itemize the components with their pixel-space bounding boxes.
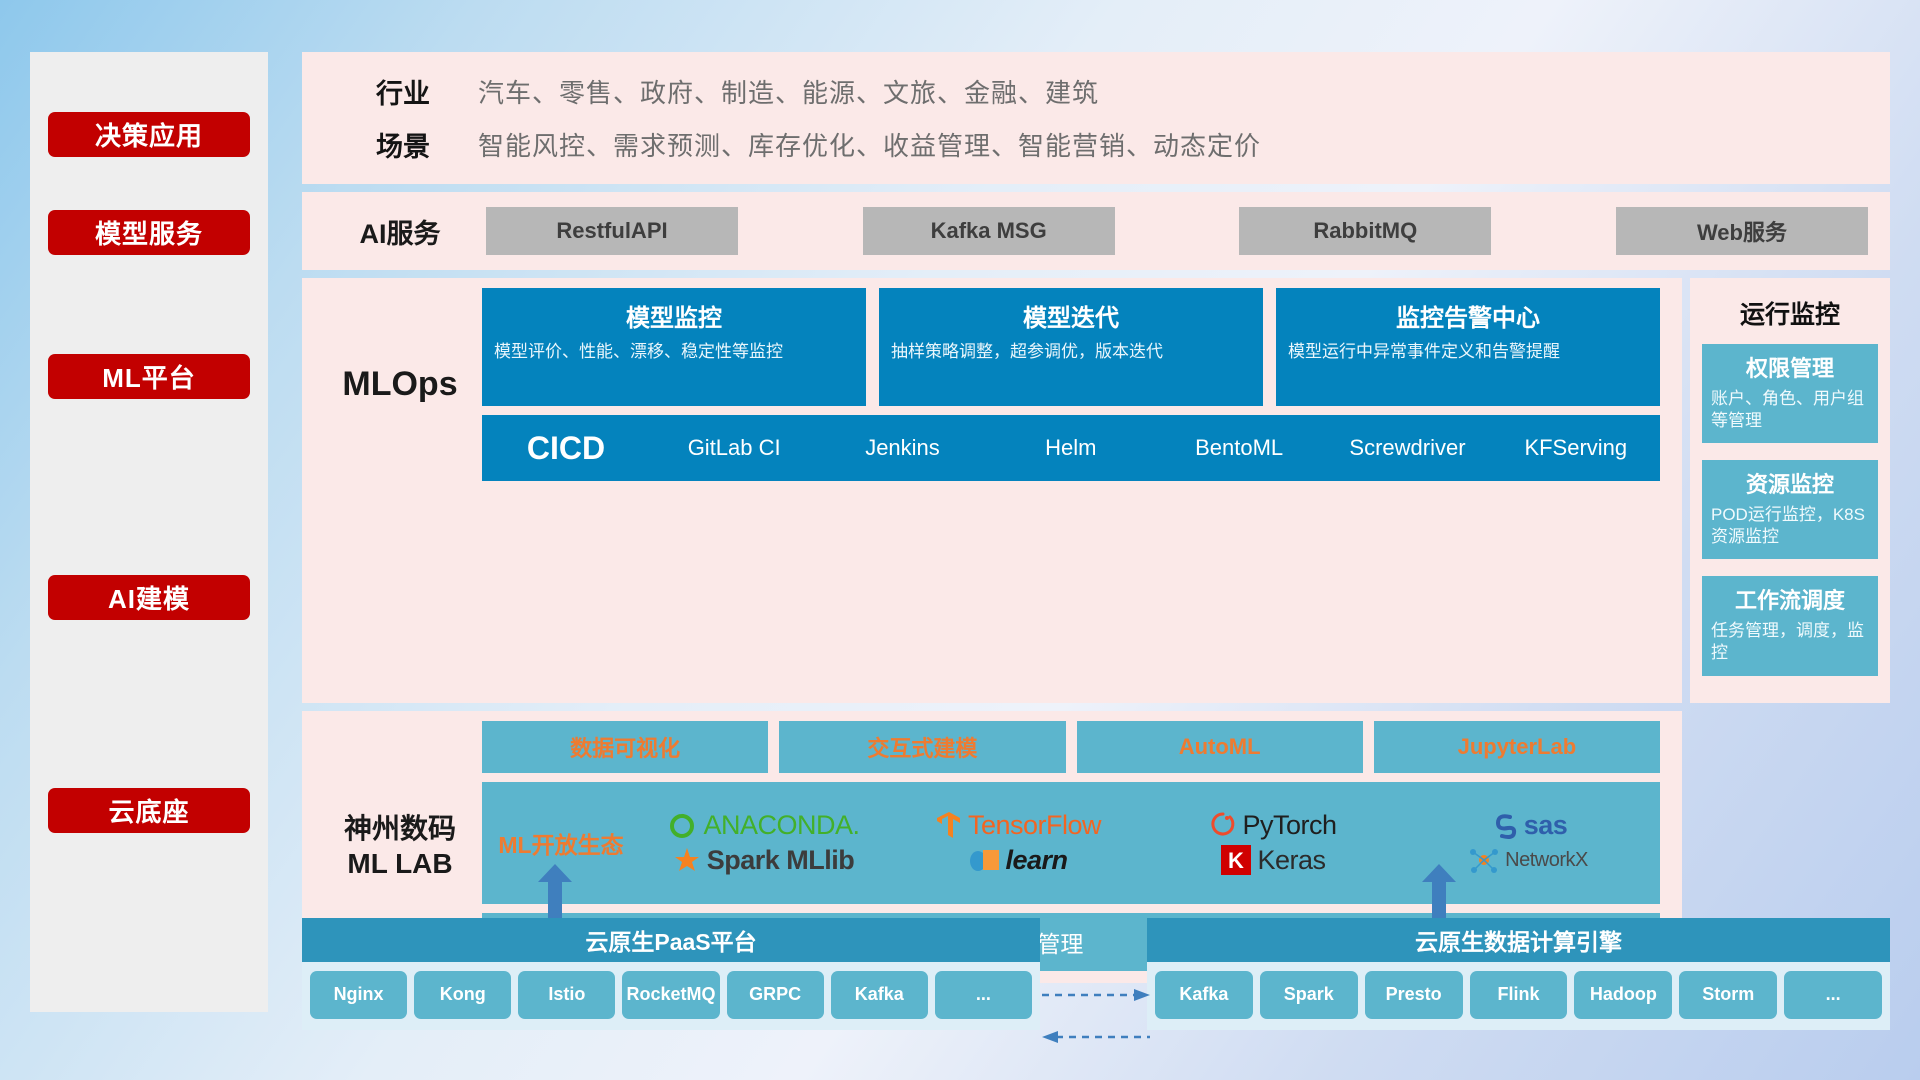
mlops-label: MLOps: [324, 365, 476, 404]
cicd-item-screwdriver[interactable]: Screwdriver: [1323, 436, 1491, 459]
card-desc: 任务管理，调度，监控: [1711, 620, 1869, 664]
scenario-key: 场景: [328, 125, 478, 164]
monitor-card-resource[interactable]: 资源监控 POD运行监控，K8S资源监控: [1702, 460, 1878, 559]
cicd-item-helm[interactable]: Helm: [987, 436, 1155, 459]
spark-mllib-label: Spark MLlib: [707, 845, 855, 876]
card-desc: 抽样策略调整，超参调优，版本迭代: [891, 341, 1251, 364]
ai-service-band: AI服务 RestfulAPI Kafka MSG RabbitMQ Web服务: [302, 192, 1890, 270]
engine-chip-storm[interactable]: Storm: [1679, 971, 1777, 1019]
card-title: 资源监控: [1711, 467, 1869, 499]
engine-chip-presto[interactable]: Presto: [1365, 971, 1463, 1019]
rail-item-ml-platform[interactable]: ML平台: [48, 354, 250, 399]
anaconda-logo: ANACONDA.: [667, 810, 859, 841]
scikit-learn-logo: learn: [969, 845, 1067, 876]
ai-chip-restfulapi[interactable]: RestfulAPI: [486, 207, 738, 255]
paas-chip-kong[interactable]: Kong: [414, 971, 511, 1019]
card-desc: 模型评价、性能、漂移、稳定性等监控: [494, 341, 854, 364]
sas-logo: sas: [1490, 810, 1568, 841]
cicd-bar: CICD GitLab CI Jenkins Helm BentoML Scre…: [482, 415, 1660, 481]
monitor-column: 运行监控 权限管理 账户、角色、用户组等管理 资源监控 POD运行监控，K8S资…: [1690, 278, 1890, 703]
card-title: 权限管理: [1711, 351, 1869, 383]
paas-chip-nginx[interactable]: Nginx: [310, 971, 407, 1019]
keras-logo: K Keras: [1221, 845, 1325, 876]
card-title: 监控告警中心: [1288, 298, 1648, 333]
card-title: 模型监控: [494, 298, 854, 333]
arrow-left-dashed-icon: [1042, 1030, 1150, 1049]
industry-row: 行业 汽车、零售、政府、制造、能源、文旅、金融、建筑: [328, 72, 1864, 111]
scikit-learn-label: learn: [1005, 845, 1067, 876]
mlops-card-alert-center[interactable]: 监控告警中心 模型运行中异常事件定义和告警提醒: [1276, 288, 1660, 406]
networkx-label: NetworkX: [1505, 849, 1588, 872]
anaconda-label: ANACONDA.: [703, 810, 859, 841]
rail-item-cloud-base[interactable]: 云底座: [48, 788, 250, 833]
ml-lab-label-line2: ML LAB: [324, 846, 476, 881]
card-title: 工作流调度: [1711, 583, 1869, 615]
pytorch-label: PyTorch: [1242, 810, 1336, 841]
mlops-card-model-iteration[interactable]: 模型迭代 抽样策略调整，超参调优，版本迭代: [879, 288, 1263, 406]
cloud-data-engine-title: 云原生数据计算引擎: [1147, 918, 1890, 962]
mlops-card-model-monitoring[interactable]: 模型监控 模型评价、性能、漂移、稳定性等监控: [482, 288, 866, 406]
lab-tool-jupyterlab[interactable]: JupyterLab: [1374, 721, 1660, 773]
rail-item-ai-modeling[interactable]: AI建模: [48, 575, 250, 620]
industry-key: 行业: [328, 72, 478, 111]
cicd-item-jenkins[interactable]: Jenkins: [818, 436, 986, 459]
engine-chip-spark[interactable]: Spark: [1260, 971, 1358, 1019]
ai-service-items: RestfulAPI Kafka MSG RabbitMQ Web服务: [476, 207, 1868, 255]
cicd-item-bentoml[interactable]: BentoML: [1155, 436, 1323, 459]
rail-item-model-service[interactable]: 模型服务: [48, 210, 250, 255]
paas-chip-istio[interactable]: Istio: [518, 971, 615, 1019]
cicd-label: CICD: [482, 430, 650, 467]
arrow-right-dashed-icon: [1042, 988, 1150, 1007]
card-title: 模型迭代: [891, 298, 1251, 333]
engine-chip-flink[interactable]: Flink: [1470, 971, 1568, 1019]
ml-lab-label: 神州数码 ML LAB: [324, 811, 476, 881]
industry-value: 汽车、零售、政府、制造、能源、文旅、金融、建筑: [478, 73, 1099, 110]
mlops-band: MLOps 模型监控 模型评价、性能、漂移、稳定性等监控 模型迭代 抽样策略调整…: [302, 278, 1682, 703]
engine-chip-kafka[interactable]: Kafka: [1155, 971, 1253, 1019]
ai-service-label: AI服务: [324, 212, 476, 251]
ai-chip-web-service[interactable]: Web服务: [1616, 207, 1868, 255]
bottom-cloud-section: 云原生PaaS平台 Nginx Kong Istio RocketMQ GRPC…: [302, 880, 1890, 1050]
networkx-logo: NetworkX: [1469, 845, 1588, 875]
mlops-cards: 模型监控 模型评价、性能、漂移、稳定性等监控 模型迭代 抽样策略调整，超参调优，…: [482, 288, 1660, 406]
cloud-data-engine-block: 云原生数据计算引擎 Kafka Spark Presto Flink Hadoo…: [1147, 918, 1890, 1030]
pytorch-logo: PyTorch: [1210, 810, 1336, 841]
ml-lab-label-line1: 神州数码: [324, 811, 476, 846]
cicd-item-kfserving[interactable]: KFServing: [1492, 436, 1660, 459]
left-rail: 决策应用 模型服务 ML平台 AI建模 云底座: [30, 52, 268, 1012]
sas-label: sas: [1524, 810, 1568, 841]
tensorflow-label: TensorFlow: [968, 810, 1101, 841]
cloud-paas-title: 云原生PaaS平台: [302, 918, 1040, 962]
card-desc: 账户、角色、用户组等管理: [1711, 388, 1869, 432]
lab-tool-interactive-modeling[interactable]: 交互式建模: [779, 721, 1065, 773]
industry-scenario-band: 行业 汽车、零售、政府、制造、能源、文旅、金融、建筑 场景 智能风控、需求预测、…: [302, 52, 1890, 184]
tensorflow-logo: TensorFlow: [936, 810, 1101, 841]
paas-chip-grpc[interactable]: GRPC: [727, 971, 824, 1019]
scenario-value: 智能风控、需求预测、库存优化、收益管理、智能营销、动态定价: [478, 126, 1261, 163]
ai-chip-rabbitmq[interactable]: RabbitMQ: [1239, 207, 1491, 255]
arrow-up-paas-icon: [538, 864, 572, 920]
cicd-item-gitlab-ci[interactable]: GitLab CI: [650, 436, 818, 459]
monitor-column-title: 运行监控: [1740, 295, 1840, 331]
lab-tools: 数据可视化 交互式建模 AutoML JupyterLab: [482, 721, 1660, 773]
monitor-card-workflow[interactable]: 工作流调度 任务管理，调度，监控: [1702, 576, 1878, 675]
mlops-tier: MLOps 模型监控 模型评价、性能、漂移、稳定性等监控 模型迭代 抽样策略调整…: [302, 278, 1890, 703]
rail-item-decision-app[interactable]: 决策应用: [48, 112, 250, 157]
card-desc: 模型运行中异常事件定义和告警提醒: [1288, 341, 1648, 364]
arrow-up-data-engine-icon: [1422, 864, 1456, 920]
engine-chip-more[interactable]: ...: [1784, 971, 1882, 1019]
lab-tool-data-visualization[interactable]: 数据可视化: [482, 721, 768, 773]
keras-label: Keras: [1257, 845, 1325, 876]
paas-chip-kafka[interactable]: Kafka: [831, 971, 928, 1019]
engine-chip-hadoop[interactable]: Hadoop: [1574, 971, 1672, 1019]
svg-text:K: K: [1229, 848, 1245, 873]
ml-ecosystem-label: ML开放生态: [486, 826, 636, 860]
card-desc: POD运行监控，K8S资源监控: [1711, 504, 1869, 548]
paas-chip-more[interactable]: ...: [935, 971, 1032, 1019]
ai-chip-kafka-msg[interactable]: Kafka MSG: [863, 207, 1115, 255]
lab-tool-automl[interactable]: AutoML: [1077, 721, 1363, 773]
scenario-row: 场景 智能风控、需求预测、库存优化、收益管理、智能营销、动态定价: [328, 125, 1864, 164]
cloud-paas-block: 云原生PaaS平台 Nginx Kong Istio RocketMQ GRPC…: [302, 918, 1040, 1030]
monitor-card-permission[interactable]: 权限管理 账户、角色、用户组等管理: [1702, 344, 1878, 443]
main-column: 行业 汽车、零售、政府、制造、能源、文旅、金融、建筑 场景 智能风控、需求预测、…: [302, 52, 1890, 983]
spark-mllib-logo: Spark MLlib: [673, 845, 855, 876]
paas-chip-rocketmq[interactable]: RocketMQ: [622, 971, 719, 1019]
